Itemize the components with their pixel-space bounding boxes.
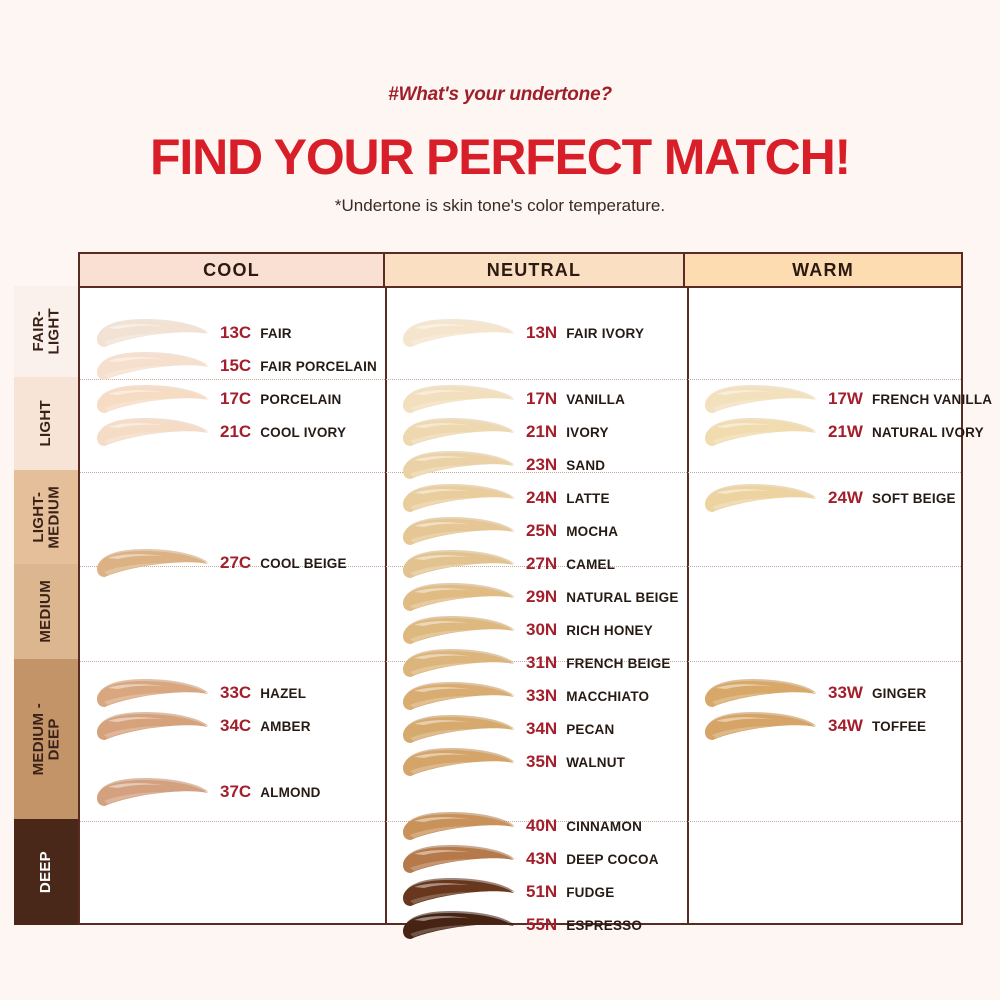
shade-entry[interactable]: 40NCINNAMON: [400, 809, 642, 843]
tone-depth-legend: FAIR- LIGHTLIGHTLIGHT- MEDIUMMEDIUMMEDIU…: [14, 286, 78, 925]
tone-band-medium: MEDIUM: [14, 564, 78, 659]
shade-name: AMBER: [260, 719, 311, 734]
column-header-cool: COOL: [80, 254, 385, 286]
shade-code: 34W: [828, 716, 863, 736]
shade-code: 31N: [526, 653, 557, 673]
shade-swatch-icon: [702, 382, 820, 416]
shade-code: 33W: [828, 683, 863, 703]
shade-code: 13N: [526, 323, 557, 343]
shade-entry[interactable]: 27CCOOL BEIGE: [94, 546, 347, 580]
shade-name: VANILLA: [566, 392, 625, 407]
shade-entry[interactable]: 17WFRENCH VANILLA: [702, 382, 992, 416]
shade-entry[interactable]: 21NIVORY: [400, 415, 609, 449]
shade-swatch-icon: [400, 316, 518, 350]
shade-entry[interactable]: 34CAMBER: [94, 709, 311, 743]
shade-name: CAMEL: [566, 557, 615, 572]
shade-code: 55N: [526, 915, 557, 935]
shade-swatch-icon: [94, 382, 212, 416]
shade-name: MOCHA: [566, 524, 618, 539]
shade-code: 29N: [526, 587, 557, 607]
tone-band-label: MEDIUM: [38, 580, 53, 643]
shade-name: PORCELAIN: [260, 392, 341, 407]
shade-code: 30N: [526, 620, 557, 640]
shade-swatch-icon: [400, 514, 518, 548]
tone-band-light-medium: LIGHT- MEDIUM: [14, 470, 78, 564]
shade-swatch-icon: [400, 481, 518, 515]
shade-name: WALNUT: [566, 755, 625, 770]
shade-entry[interactable]: 17CPORCELAIN: [94, 382, 342, 416]
shade-name: ALMOND: [260, 785, 320, 800]
shade-name: COOL BEIGE: [260, 556, 347, 571]
shade-entry[interactable]: 33WGINGER: [702, 676, 926, 710]
shade-name: SAND: [566, 458, 605, 473]
shade-swatch-icon: [94, 775, 212, 809]
shade-swatch-icon: [702, 481, 820, 515]
column-divider-1: [385, 288, 387, 923]
tone-band-label: LIGHT: [38, 400, 53, 447]
shade-entry[interactable]: 27NCAMEL: [400, 547, 615, 581]
shade-entry[interactable]: 35NWALNUT: [400, 745, 625, 779]
shade-name: IVORY: [566, 425, 609, 440]
shade-swatch-icon: [400, 875, 518, 909]
shade-entry[interactable]: 43NDEEP COCOA: [400, 842, 659, 876]
shade-swatch-icon: [94, 676, 212, 710]
tone-band-label: LIGHT- MEDIUM: [31, 486, 62, 549]
shade-entry[interactable]: 24WSOFT BEIGE: [702, 481, 956, 515]
shade-code: 13C: [220, 323, 251, 343]
shade-entry[interactable]: 34WTOFFEE: [702, 709, 926, 743]
shade-entry[interactable]: 21CCOOL IVORY: [94, 415, 346, 449]
shade-code: 37C: [220, 782, 251, 802]
shade-name: SOFT BEIGE: [872, 491, 956, 506]
shade-name: FAIR IVORY: [566, 326, 644, 341]
shade-name: LATTE: [566, 491, 610, 506]
shade-swatch-icon: [400, 382, 518, 416]
shade-name: NATURAL IVORY: [872, 425, 984, 440]
shade-entry[interactable]: 55NESPRESSO: [400, 908, 642, 942]
shade-code: 33C: [220, 683, 251, 703]
shade-entry[interactable]: 15CFAIR PORCELAIN: [94, 349, 377, 383]
shade-name: CINNAMON: [566, 819, 642, 834]
shade-name: RICH HONEY: [566, 623, 653, 638]
shade-table-body: 13CFAIR15CFAIR PORCELAIN17CPORCELAIN21CC…: [80, 288, 961, 923]
shade-table-header: COOL NEUTRAL WARM: [80, 254, 961, 288]
shade-code: 34N: [526, 719, 557, 739]
shade-entry[interactable]: 51NFUDGE: [400, 875, 614, 909]
tone-band-label: FAIR- LIGHT: [31, 308, 62, 355]
shade-name: HAZEL: [260, 686, 306, 701]
tone-band-medium-deep: MEDIUM - DEEP: [14, 659, 78, 819]
shade-name: FAIR: [260, 326, 292, 341]
shade-swatch-icon: [400, 809, 518, 843]
shade-name: FRENCH BEIGE: [566, 656, 670, 671]
shade-table: COOL NEUTRAL WARM 13CFAIR15CFAIR PORCELA…: [78, 252, 963, 925]
shade-code: 33N: [526, 686, 557, 706]
tone-band-deep: DEEP: [14, 819, 78, 925]
shade-swatch-icon: [400, 448, 518, 482]
shade-swatch-icon: [400, 908, 518, 942]
shade-code: 25N: [526, 521, 557, 541]
shade-code: 40N: [526, 816, 557, 836]
shade-match-chart: #What's your undertone? FIND YOUR PERFEC…: [0, 0, 1000, 1000]
shade-name: MACCHIATO: [566, 689, 649, 704]
shade-name: COOL IVORY: [260, 425, 346, 440]
shade-code: 34C: [220, 716, 251, 736]
tone-band-light: LIGHT: [14, 377, 78, 470]
shade-entry[interactable]: 21WNATURAL IVORY: [702, 415, 984, 449]
shade-name: PECAN: [566, 722, 614, 737]
shade-code: 35N: [526, 752, 557, 772]
page-title-part2: PERFECT MATCH!: [426, 129, 850, 185]
shade-entry[interactable]: 17NVANILLA: [400, 382, 625, 416]
shade-name: TOFFEE: [872, 719, 926, 734]
column-header-warm: WARM: [685, 254, 961, 286]
shade-name: FUDGE: [566, 885, 614, 900]
shade-code: 51N: [526, 882, 557, 902]
shade-code: 17N: [526, 389, 557, 409]
shade-swatch-icon: [94, 349, 212, 383]
shade-swatch-icon: [400, 547, 518, 581]
shade-code: 21N: [526, 422, 557, 442]
shade-code: 17C: [220, 389, 251, 409]
shade-entry[interactable]: 13NFAIR IVORY: [400, 316, 644, 350]
shade-entry[interactable]: 33CHAZEL: [94, 676, 306, 710]
shade-swatch-icon: [702, 415, 820, 449]
shade-entry[interactable]: 30NRICH HONEY: [400, 613, 653, 647]
shade-entry[interactable]: 13CFAIR: [94, 316, 292, 350]
shade-code: 43N: [526, 849, 557, 869]
shade-code: 24W: [828, 488, 863, 508]
tone-band-label: DEEP: [38, 851, 53, 893]
shade-entry[interactable]: 31NFRENCH BEIGE: [400, 646, 671, 680]
shade-swatch-icon: [400, 646, 518, 680]
shade-swatch-icon: [94, 415, 212, 449]
shade-name: DEEP COCOA: [566, 852, 659, 867]
column-divider-2: [687, 288, 689, 923]
shade-swatch-icon: [400, 679, 518, 713]
shade-entry[interactable]: 24NLATTE: [400, 481, 610, 515]
shade-name: ESPRESSO: [566, 918, 642, 933]
shade-entry[interactable]: 23NSAND: [400, 448, 605, 482]
shade-entry[interactable]: 29NNATURAL BEIGE: [400, 580, 679, 614]
shade-entry[interactable]: 34NPECAN: [400, 712, 614, 746]
shade-swatch-icon: [400, 842, 518, 876]
shade-swatch-icon: [400, 415, 518, 449]
tone-band-label: MEDIUM - DEEP: [31, 703, 62, 775]
tone-band-fair-light: FAIR- LIGHT: [14, 286, 78, 377]
shade-code: 27C: [220, 553, 251, 573]
shade-swatch-icon: [400, 613, 518, 647]
shade-entry[interactable]: 25NMOCHA: [400, 514, 618, 548]
shade-entry[interactable]: 37CALMOND: [94, 775, 321, 809]
undertone-footnote: *Undertone is skin tone's color temperat…: [0, 196, 1000, 216]
shade-swatch-icon: [400, 712, 518, 746]
shade-swatch-icon: [400, 580, 518, 614]
hashtag-text: #What's your undertone?: [0, 84, 1000, 106]
shade-code: 21C: [220, 422, 251, 442]
shade-code: 15C: [220, 356, 251, 376]
shade-name: FRENCH VANILLA: [872, 392, 992, 407]
shade-code: 21W: [828, 422, 863, 442]
shade-name: GINGER: [872, 686, 926, 701]
shade-swatch-icon: [702, 676, 820, 710]
shade-name: NATURAL BEIGE: [566, 590, 678, 605]
shade-swatch-icon: [94, 709, 212, 743]
shade-swatch-icon: [94, 316, 212, 350]
page-title-part1: FIND YOUR: [150, 129, 426, 185]
shade-code: 23N: [526, 455, 557, 475]
shade-swatch-icon: [702, 709, 820, 743]
shade-code: 17W: [828, 389, 863, 409]
shade-swatch-icon: [94, 546, 212, 580]
page-title: FIND YOUR PERFECT MATCH!: [0, 128, 1000, 186]
shade-swatch-icon: [400, 745, 518, 779]
shade-name: FAIR PORCELAIN: [260, 359, 377, 374]
column-header-neutral: NEUTRAL: [385, 254, 685, 286]
shade-code: 24N: [526, 488, 557, 508]
shade-entry[interactable]: 33NMACCHIATO: [400, 679, 649, 713]
shade-code: 27N: [526, 554, 557, 574]
